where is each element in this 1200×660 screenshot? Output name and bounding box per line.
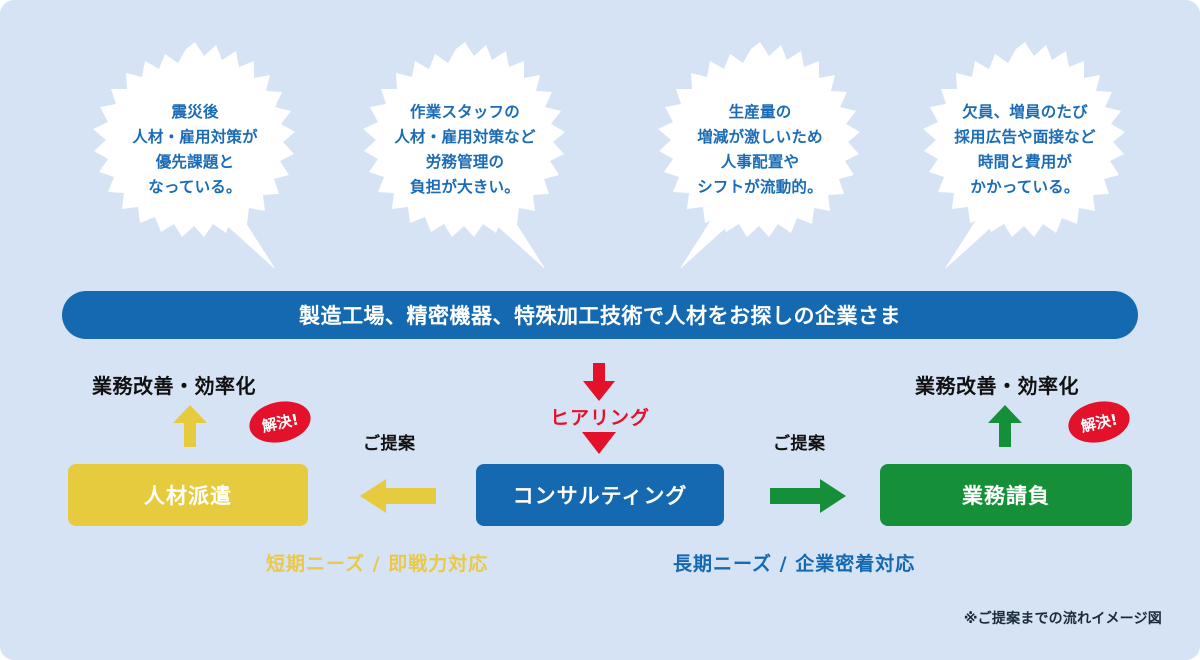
speech-bubble-text: 欠員、増員のたび 採用広告や面接など 時間と費用が かかっている。 bbox=[910, 38, 1140, 268]
bubble-line: 生産量の bbox=[729, 100, 792, 125]
bubble-line: 欠員、増員のたび bbox=[962, 100, 1088, 125]
left-pointing-arrow-icon bbox=[360, 479, 436, 513]
right-improvement-heading: 業務改善・効率化 bbox=[915, 370, 1079, 399]
speech-bubble-production: 生産量の 増減が激しいため 人事配置や シフトが流動的。 bbox=[645, 38, 875, 268]
diagram-canvas: 震災後 人材・雇用対策が 優先課題と なっている。 作業スタッフの 人材・雇用対… bbox=[0, 0, 1200, 660]
bubble-line: 人材・雇用対策が bbox=[132, 125, 258, 150]
bubble-line: 時間と費用が bbox=[978, 150, 1072, 175]
contract-work-box[interactable]: 業務請負 bbox=[880, 464, 1132, 526]
bubble-line: 人材・雇用対策など bbox=[394, 125, 535, 150]
speech-bubble-text: 生産量の 増減が激しいため 人事配置や シフトが流動的。 bbox=[645, 38, 875, 268]
bubble-line: なっている。 bbox=[148, 175, 241, 200]
bubble-line: 負担が大きい。 bbox=[410, 175, 520, 200]
speech-bubble-hiring: 欠員、増員のたび 採用広告や面接など 時間と費用が かかっている。 bbox=[910, 38, 1140, 268]
bubble-line: シフトが流動的。 bbox=[697, 175, 823, 200]
bubble-line: 労務管理の bbox=[426, 150, 505, 175]
left-needs-caption: 短期ニーズ / 即戦力対応 bbox=[266, 549, 488, 576]
right-needs-caption: 長期ニーズ / 企業密着対応 bbox=[673, 549, 915, 576]
bubble-line: 震災後 bbox=[171, 100, 218, 125]
bubble-line: 優先課題と bbox=[156, 150, 235, 175]
right-up-arrow-icon bbox=[988, 405, 1022, 447]
consulting-box[interactable]: コンサルティング bbox=[476, 464, 724, 526]
hearing-down-arrow-icon bbox=[581, 363, 617, 401]
right-pointing-arrow-icon bbox=[770, 479, 846, 513]
right-proposal-label: ご提案 bbox=[773, 429, 826, 454]
left-improvement-heading: 業務改善・効率化 bbox=[92, 370, 256, 399]
left-proposal-label: ご提案 bbox=[363, 429, 416, 454]
target-audience-banner: 製造工場、精密機器、特殊加工技術で人材をお探しの企業さま bbox=[62, 291, 1138, 339]
bubble-line: 人事配置や bbox=[721, 150, 800, 175]
bubble-line: かかっている。 bbox=[970, 175, 1079, 200]
footnote-text: ※ご提案までの流れイメージ図 bbox=[964, 608, 1162, 628]
bubble-line: 採用広告や面接など bbox=[954, 125, 1095, 150]
speech-bubble-quake: 震災後 人材・雇用対策が 優先課題と なっている。 bbox=[80, 38, 310, 268]
speech-bubble-text: 震災後 人材・雇用対策が 優先課題と なっている。 bbox=[80, 38, 310, 268]
bubble-line: 増減が激しいため bbox=[697, 125, 823, 150]
left-up-arrow-icon bbox=[173, 405, 207, 447]
speech-bubble-staff: 作業スタッフの 人材・雇用対策など 労務管理の 負担が大きい。 bbox=[350, 38, 580, 268]
staffing-dispatch-box[interactable]: 人材派遣 bbox=[68, 464, 308, 526]
hearing-down-triangle-icon bbox=[582, 432, 616, 454]
bubble-line: 作業スタッフの bbox=[410, 100, 520, 125]
speech-bubble-text: 作業スタッフの 人材・雇用対策など 労務管理の 負担が大きい。 bbox=[350, 38, 580, 268]
